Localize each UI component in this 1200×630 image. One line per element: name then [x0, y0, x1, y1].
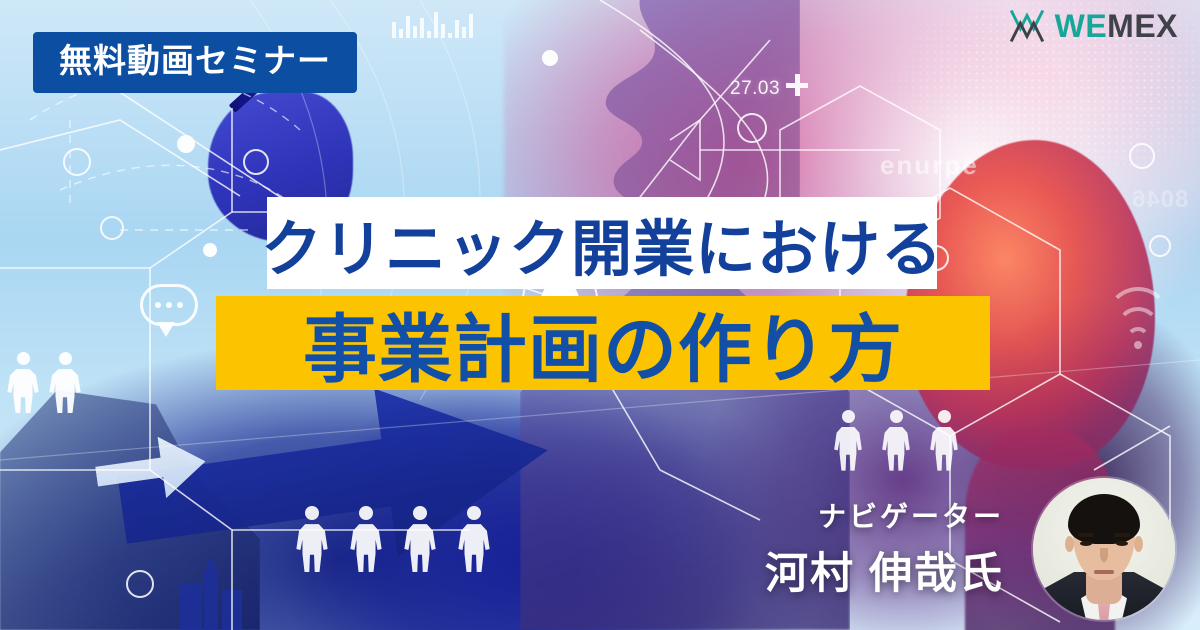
- wifi-icon: [1103, 295, 1173, 351]
- wemex-x-mark: [1008, 8, 1046, 44]
- navigator-portrait-avatar: [1033, 478, 1175, 620]
- person-icon: [929, 410, 959, 471]
- ghost-text-1: enurpe: [880, 150, 979, 181]
- person-icon: [48, 352, 82, 413]
- person-icon: [6, 352, 40, 413]
- number-label: 27.03: [730, 78, 780, 100]
- logo-text-we: WE: [1055, 8, 1108, 44]
- person-icon: [833, 410, 863, 471]
- wemex-logo[interactable]: WEMEX: [1008, 8, 1178, 44]
- wemex-wordmark: WEMEX: [1055, 10, 1178, 42]
- ghost-text-2: 8046: [1131, 186, 1188, 214]
- title-line-2: 事業計画の作り方: [216, 296, 990, 390]
- people-pictogram-left: [6, 352, 82, 413]
- plus-icon: [786, 74, 808, 96]
- logo-text-mex: MEX: [1107, 8, 1178, 44]
- speech-bubble-icon: [140, 284, 198, 326]
- navigator-name: 河村 伸哉氏: [0, 539, 1004, 601]
- mini-bar-chart-graphic: [392, 4, 482, 38]
- person-icon: [881, 410, 911, 471]
- free-video-seminar-badge: 無料動画セミナー: [33, 32, 357, 93]
- seminar-banner: 27.03 enurpe 8046 無料動画セミナー WEMEX: [0, 0, 1200, 630]
- navigator-block: ナビゲーター 河村 伸哉氏: [0, 495, 1200, 601]
- navigator-role-label: ナビゲーター: [0, 495, 1004, 535]
- title-line-1: クリニック開業における: [267, 197, 937, 289]
- people-pictogram-right: [833, 410, 959, 471]
